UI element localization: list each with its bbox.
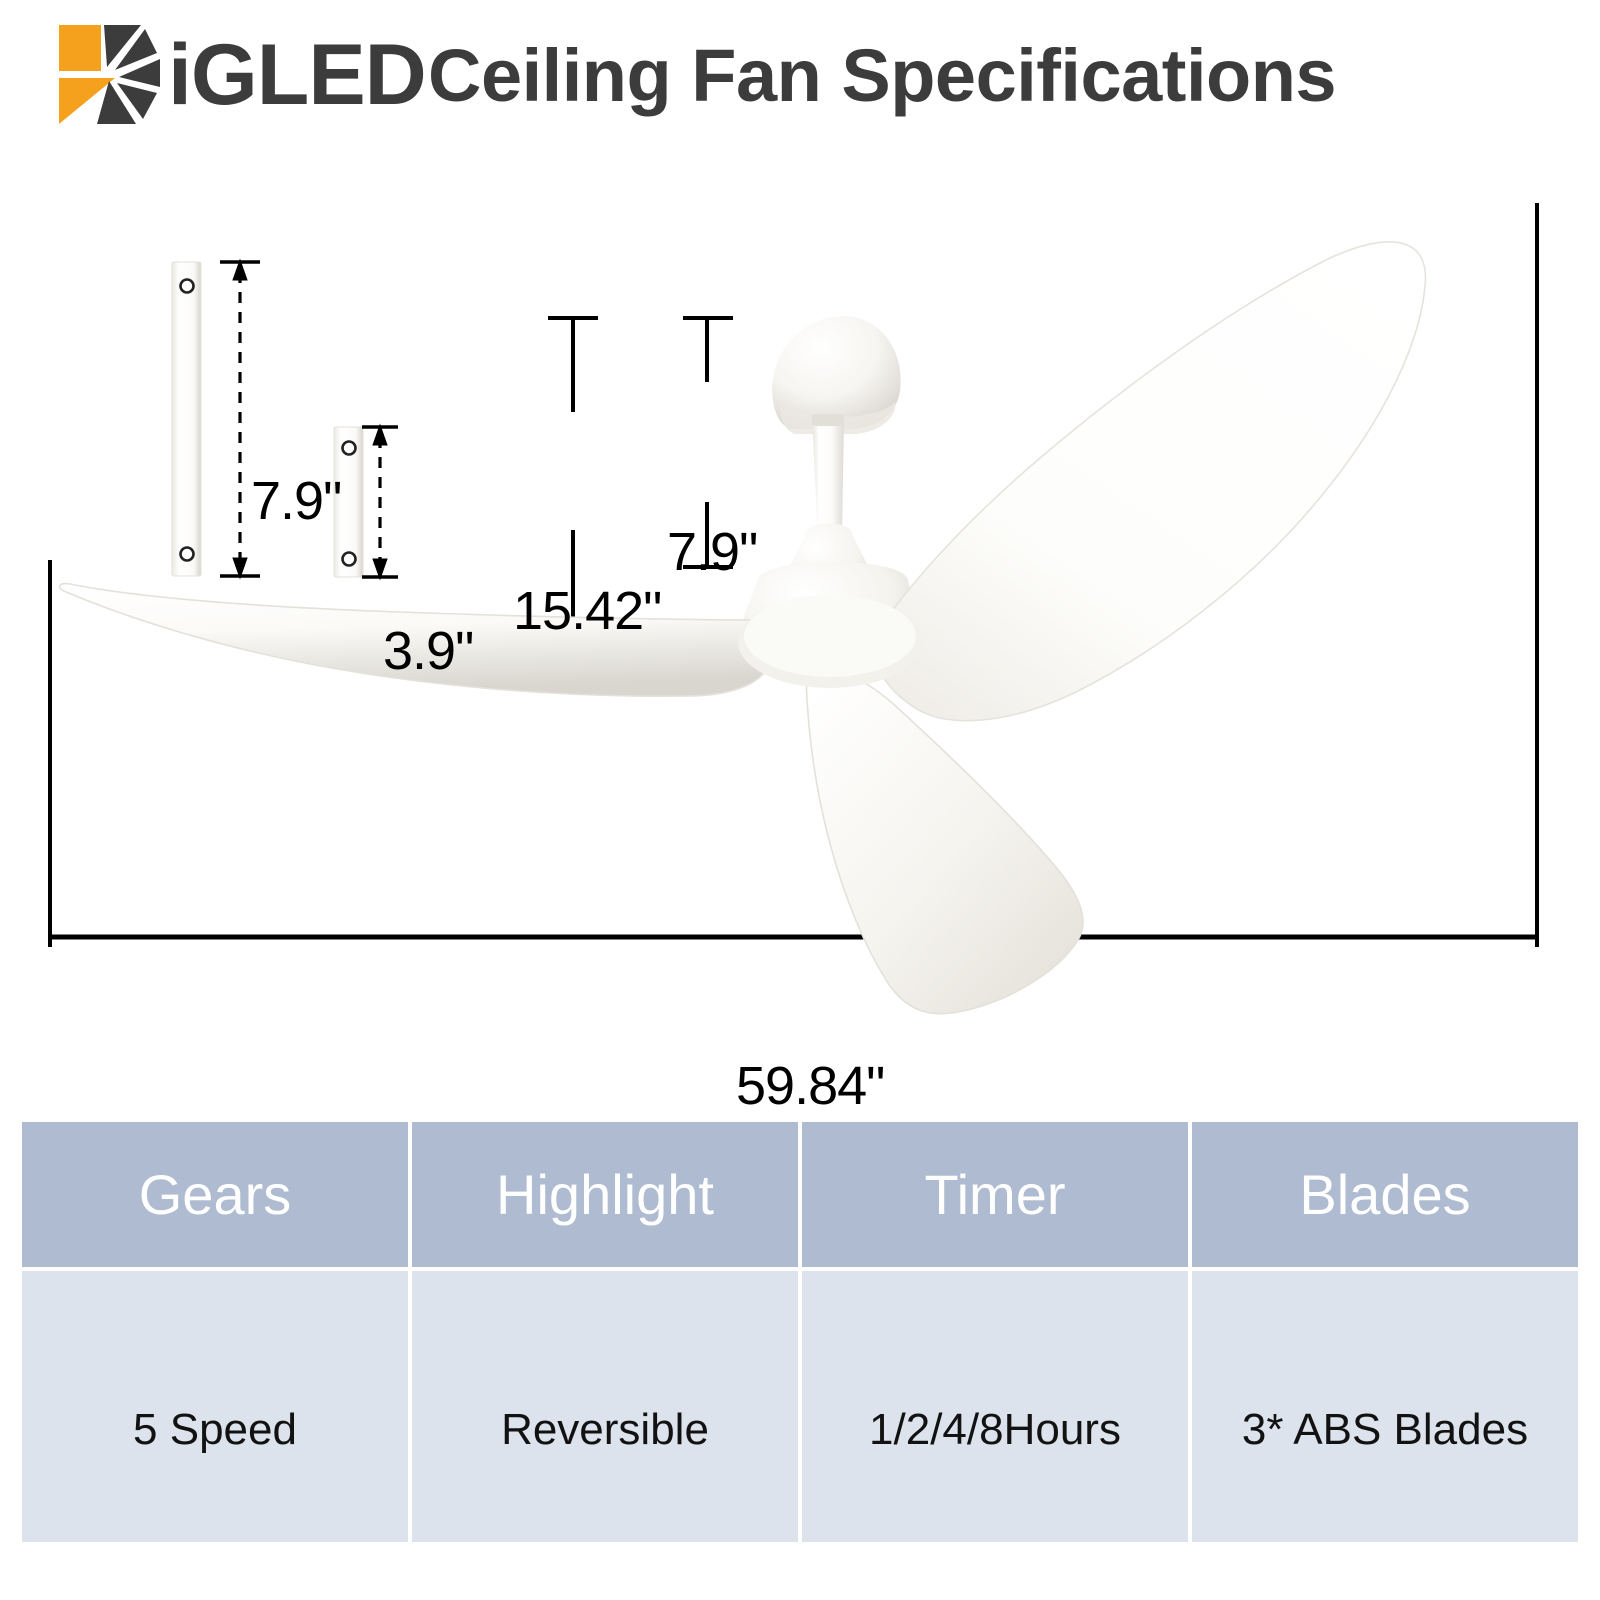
dimension-line-downrod-short [362, 425, 398, 579]
downrod [812, 414, 844, 538]
table-header-timer: Timer [802, 1122, 1188, 1267]
dimension-label-drop-height: 7.9" [667, 521, 757, 583]
fan-diagram: 7.9" 3.9" 15.42" 7.9" 59.84" [0, 150, 1600, 1050]
table-header-gears: Gears [22, 1122, 408, 1267]
specification-table: Gears Highlight Timer Blades 5 Speed Rev… [22, 1122, 1578, 1538]
dimension-label-total-height: 15.42" [513, 580, 661, 642]
light-kit-dome [738, 595, 922, 688]
table-cell-gears: 5 Speed [22, 1271, 408, 1542]
dimension-label-blade-span: 59.84" [724, 1055, 896, 1117]
page-header: iGLED Ceiling Fan Specifications [0, 0, 1600, 150]
dimension-label-downrod-long: 7.9" [251, 470, 341, 532]
table-header-highlight: Highlight [412, 1122, 798, 1267]
blade-upper-right [873, 242, 1425, 721]
brand-wordmark: iGLED [168, 24, 426, 127]
table-cell-timer: 1/2/4/8Hours [802, 1271, 1188, 1542]
page-title: Ceiling Fan Specifications [428, 24, 1336, 127]
table-cell-blades: 3* ABS Blades [1192, 1271, 1578, 1542]
table-cell-highlight: Reversible [412, 1271, 798, 1542]
digled-logo-icon [57, 23, 165, 126]
table-header-blades: Blades [1192, 1122, 1578, 1267]
long-downrod-accessory [172, 262, 201, 576]
dimension-label-downrod-short: 3.9" [383, 620, 473, 682]
